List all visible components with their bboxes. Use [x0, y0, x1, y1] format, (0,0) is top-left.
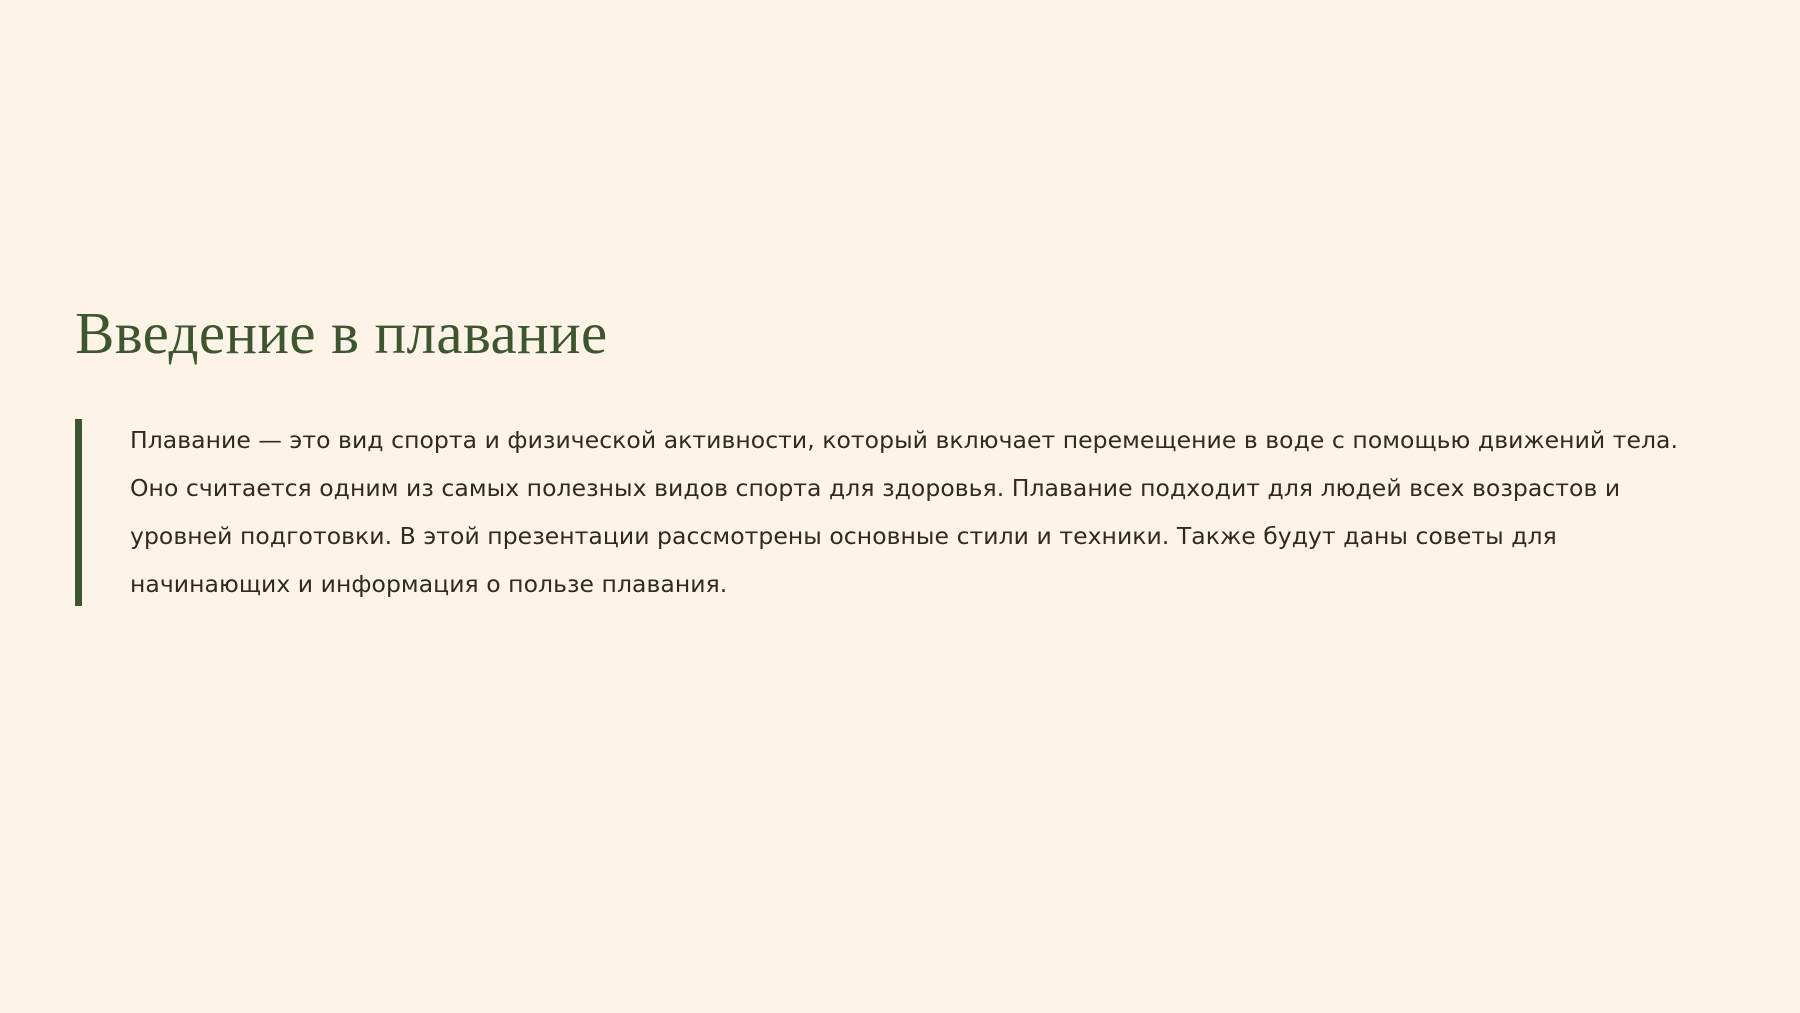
accent-bar — [75, 419, 82, 606]
body-quote-block: Плавание — это вид спорта и физической а… — [75, 416, 1715, 608]
slide-title: Введение в плавание — [75, 300, 1715, 366]
slide-body-text: Плавание — это вид спорта и физической а… — [130, 416, 1705, 608]
slide-content: Введение в плавание Плавание — это вид с… — [75, 300, 1715, 608]
presentation-slide: Введение в плавание Плавание — это вид с… — [0, 0, 1800, 1013]
